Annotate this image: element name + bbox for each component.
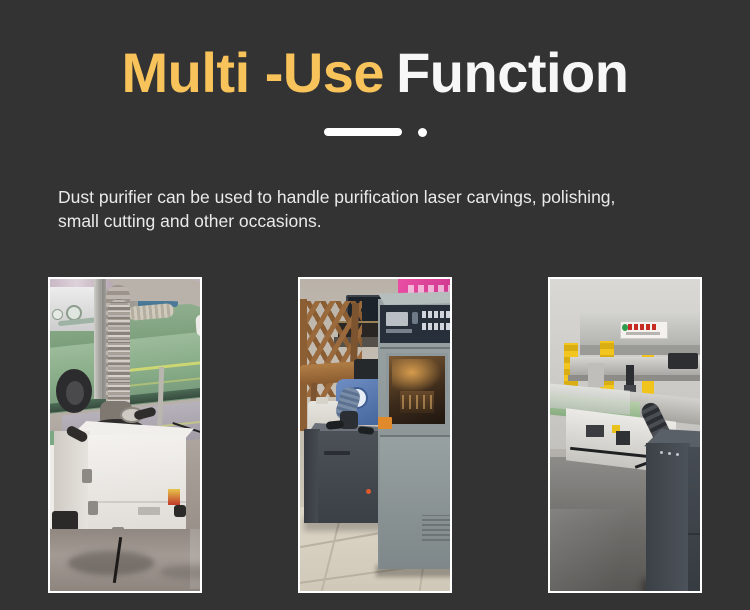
- control-panel-keypad-row-2[interactable]: [422, 323, 450, 330]
- press-slide-block: [588, 363, 604, 387]
- cabinet-louver-vent: [422, 515, 450, 541]
- floor-reflection: [550, 509, 650, 591]
- subtitle-line-1: Dust purifier can be used to handle puri…: [58, 187, 615, 207]
- control-panel-display: [386, 312, 408, 326]
- machine-logo-text: [628, 324, 658, 330]
- multi-use-function-banner: Multi -UseFunction Dust purifier can be …: [0, 0, 750, 610]
- cabinet-seam-upper: [380, 347, 450, 349]
- subtitle-line-2: small cutting and other occasions.: [58, 209, 718, 233]
- cart-wheel-hub: [66, 381, 84, 405]
- extraction-hose-ribs: [108, 299, 130, 417]
- divider-dot: [418, 128, 427, 137]
- window-interior-grid: [402, 395, 432, 409]
- photo-frame-2[interactable]: [298, 277, 452, 593]
- banner-header: Multi -UseFunction Dust purifier can be …: [0, 0, 750, 101]
- machine-dark-module-2: [616, 431, 630, 445]
- purifier-latch-1: [82, 469, 92, 483]
- purifier-door-seam: [688, 533, 700, 535]
- divider: [0, 126, 750, 138]
- photo-frame-3[interactable]: [548, 277, 702, 593]
- subtitle: Dust purifier can be used to handle puri…: [58, 185, 718, 233]
- purifier-label: [138, 507, 160, 515]
- page-title: Multi -UseFunction: [0, 0, 750, 101]
- industrial-press-purifier-photo: [550, 279, 700, 591]
- machine-dark-module-1: [586, 425, 604, 437]
- purifier-warning-tag: [168, 489, 180, 505]
- page-title-accent: Multi -Use: [122, 41, 385, 104]
- purifier-vent: [324, 451, 350, 455]
- control-panel-keypad-row-1[interactable]: [422, 311, 450, 318]
- cabinet-machine-purifier-photo: [300, 279, 450, 591]
- floor-power-strip: [52, 511, 78, 531]
- workshop-purifier-photo: [50, 279, 200, 591]
- floor-reflection: [190, 529, 200, 589]
- control-panel-label: [386, 329, 412, 333]
- purifier-caster: [174, 505, 186, 517]
- cabinet-lower-door[interactable]: [380, 437, 450, 569]
- page-title-plain: Function: [396, 41, 628, 104]
- press-head: [668, 353, 698, 369]
- plastic-jug-cap: [316, 397, 328, 404]
- pressure-gauge-small: [52, 309, 63, 320]
- window-interior-glow: [392, 359, 442, 393]
- divider-bar: [324, 128, 402, 136]
- photo-gallery: [8, 261, 742, 577]
- cabinet-orange-label: [378, 417, 392, 429]
- purifier-latch-2: [88, 501, 98, 515]
- floor-stain-1: [68, 551, 154, 575]
- photo-frame-1[interactable]: [48, 277, 202, 593]
- machine-logo-subtext: [626, 332, 660, 335]
- purifier-side-panel: [646, 443, 690, 591]
- purifier-front-panel: [688, 447, 700, 591]
- control-panel-knob[interactable]: [412, 312, 418, 324]
- purifier-front-panel: [318, 431, 380, 523]
- purifier-indicator-led: [366, 489, 371, 494]
- purifier-top-fasteners: [660, 451, 663, 454]
